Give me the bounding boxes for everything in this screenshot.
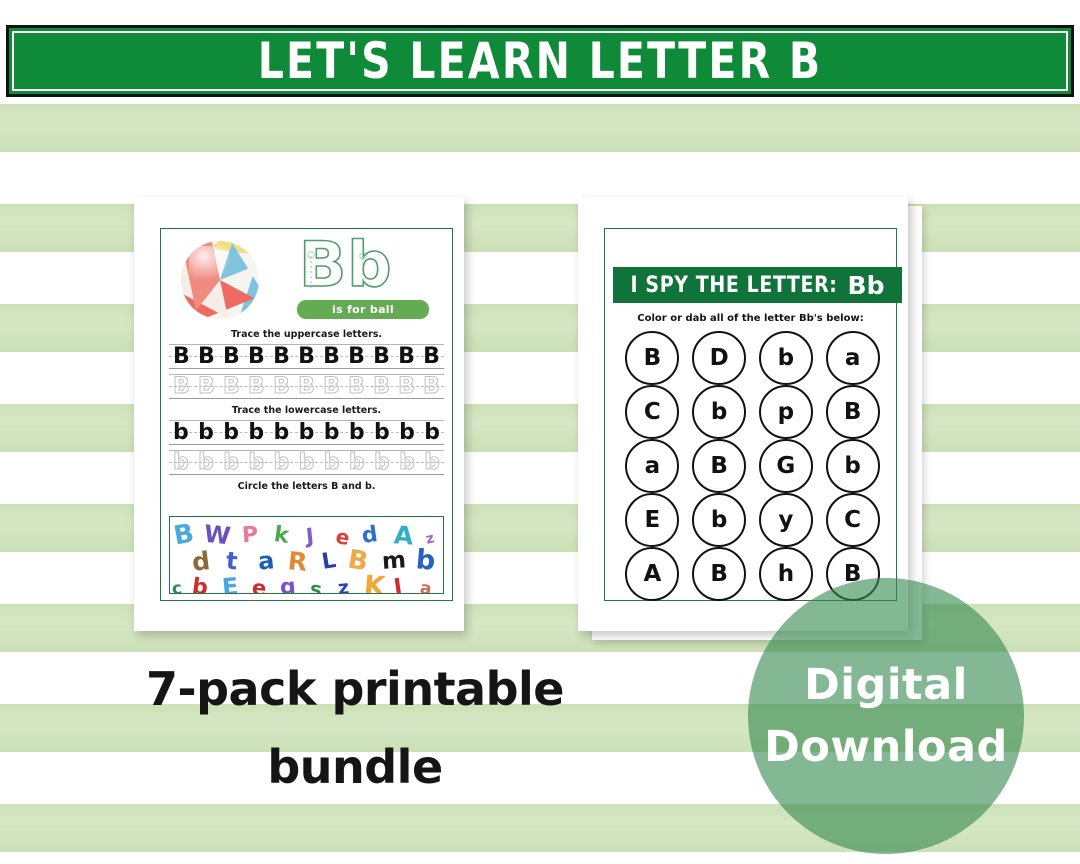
i-spy-bubble[interactable]: h: [759, 547, 813, 601]
fun-letter: K: [363, 572, 386, 594]
trace-letter: B: [198, 344, 215, 370]
i-spy-bubble[interactable]: E: [625, 493, 679, 547]
fun-letter: c: [171, 581, 183, 594]
trace-letter: B: [398, 374, 415, 400]
trace-letter: b: [399, 450, 415, 476]
trace-letter: b: [324, 420, 340, 446]
trace-letter: b: [349, 450, 365, 476]
caption-line-2: bundle: [120, 728, 590, 806]
trace-letter: b: [173, 420, 189, 446]
i-spy-bubble[interactable]: a: [625, 439, 679, 493]
trace-letter: b: [399, 420, 415, 446]
i-spy-bubble[interactable]: D: [692, 331, 746, 385]
trace-letter: B: [223, 374, 240, 400]
title-banner: LET'S LEARN LETTER B: [6, 25, 1074, 97]
caption-line-1: 7-pack printable: [120, 650, 590, 728]
trace-letter: b: [424, 450, 440, 476]
trace-letter: B: [423, 344, 440, 370]
i-spy-bubble[interactable]: B: [692, 547, 746, 601]
i-spy-grid[interactable]: BDbaCbpBaBGbEbyCABhB: [619, 331, 886, 592]
is-for-ball-pill: is for ball: [297, 300, 429, 319]
trace-letter: b: [223, 420, 239, 446]
fun-letter-row: cbEegszKJaN: [170, 569, 443, 594]
hero-section: Bb is for ball: [161, 235, 452, 325]
i-spy-bubble[interactable]: b: [826, 439, 880, 493]
trace-letter: B: [173, 374, 190, 400]
digital-download-badge: Digital Download: [748, 578, 1024, 854]
trace-letter: b: [374, 450, 390, 476]
instruction-uppercase: Trace the uppercase letters.: [169, 329, 444, 340]
i-spy-bubble[interactable]: C: [625, 385, 679, 439]
trace-letter: B: [423, 374, 440, 400]
trace-letter: b: [173, 450, 189, 476]
i-spy-bubble[interactable]: b: [759, 331, 813, 385]
fun-letter: e: [251, 577, 267, 594]
trace-dots-overlay: [303, 250, 423, 294]
fun-letter-row: dtaRLBmbx: [170, 543, 443, 569]
i-spy-subtitle: Color or dab all of the letter Bb's belo…: [605, 313, 896, 324]
trace-letter: B: [248, 344, 265, 370]
instruction-lowercase: Trace the lowercase letters.: [169, 405, 444, 416]
i-spy-bubble[interactable]: a: [826, 331, 880, 385]
fun-letter: z: [337, 579, 350, 594]
trace-letter: b: [248, 420, 264, 446]
uppercase-solid-row[interactable]: BBBBBBBBBBB: [169, 342, 444, 370]
trace-letter: b: [198, 420, 214, 446]
i-spy-bubble[interactable]: B: [692, 439, 746, 493]
trace-letter: B: [373, 344, 390, 370]
trace-letter: b: [324, 450, 340, 476]
i-spy-label: I SPY THE LETTER:: [631, 272, 838, 297]
uppercase-trace-block: Trace the uppercase letters. BBBBBBBBBBB…: [169, 329, 444, 400]
fun-letter-row: BWPkJedAzg: [170, 517, 443, 543]
worksheet-right-inner: I SPY THE LETTER: Bb Color or dab all of…: [604, 228, 897, 601]
trace-letter: b: [198, 450, 214, 476]
i-spy-banner: I SPY THE LETTER: Bb: [613, 267, 902, 303]
i-spy-bubble[interactable]: b: [692, 385, 746, 439]
trace-letter: b: [274, 450, 290, 476]
badge-line-2: Download: [764, 716, 1008, 778]
fun-letter: b: [191, 576, 210, 594]
beach-ball-icon: [181, 241, 259, 319]
uppercase-ghost-row[interactable]: BBBBBBBBBBB: [169, 372, 444, 400]
poster-stage: LET'S LEARN LETTER B Bb: [0, 0, 1080, 864]
instruction-circle: Circle the letters B and b.: [161, 481, 452, 492]
trace-letter: B: [223, 344, 240, 370]
i-spy-bubble[interactable]: A: [625, 547, 679, 601]
trace-letter: b: [274, 420, 290, 446]
trace-letter: B: [273, 344, 290, 370]
fun-letter: g: [279, 576, 296, 594]
lowercase-ghost-row[interactable]: bbbbbbbbbbb: [169, 448, 444, 476]
is-for-ball-label: is for ball: [332, 303, 394, 316]
trace-letter: B: [323, 344, 340, 370]
trace-letter: b: [248, 450, 264, 476]
trace-letter: B: [348, 374, 365, 400]
i-spy-bubble[interactable]: B: [826, 385, 880, 439]
trace-letter: B: [273, 374, 290, 400]
fun-letter: s: [309, 578, 323, 594]
i-spy-bubble[interactable]: p: [759, 385, 813, 439]
i-spy-bubble[interactable]: b: [692, 493, 746, 547]
trace-letter: b: [374, 420, 390, 446]
worksheet-card-left[interactable]: Bb is for ball Trace the uppercase lette…: [134, 197, 464, 631]
page-title: LET'S LEARN LETTER B: [258, 32, 823, 91]
i-spy-bubble[interactable]: C: [826, 493, 880, 547]
trace-letter: B: [173, 344, 190, 370]
i-spy-bubble[interactable]: y: [759, 493, 813, 547]
trace-letter: b: [424, 420, 440, 446]
trace-letter: B: [323, 374, 340, 400]
fun-letter: E: [221, 575, 239, 594]
trace-letter: b: [299, 420, 315, 446]
i-spy-bubble[interactable]: B: [625, 331, 679, 385]
i-spy-letters: Bb: [848, 271, 885, 300]
trace-letter: b: [349, 420, 365, 446]
i-spy-bubble[interactable]: G: [759, 439, 813, 493]
fun-letter: a: [419, 580, 433, 594]
circle-letters-panel[interactable]: BWPkJedAzg dtaRLBmbx cbEegszKJaN: [169, 516, 444, 594]
trace-letter: B: [198, 374, 215, 400]
trace-letter: B: [298, 344, 315, 370]
trace-letter: B: [298, 374, 315, 400]
fun-letter: J: [393, 576, 404, 594]
badge-line-1: Digital: [804, 654, 968, 716]
lowercase-solid-row[interactable]: bbbbbbbbbbb: [169, 418, 444, 446]
trace-letter: B: [373, 374, 390, 400]
worksheet-left-inner: Bb is for ball Trace the uppercase lette…: [160, 228, 453, 601]
trace-letter: B: [348, 344, 365, 370]
bundle-caption: 7-pack printable bundle: [120, 650, 590, 806]
trace-letter: b: [299, 450, 315, 476]
title-banner-inner-border: LET'S LEARN LETTER B: [12, 31, 1068, 91]
trace-letter: B: [248, 374, 265, 400]
trace-letter: b: [223, 450, 239, 476]
trace-letter: B: [398, 344, 415, 370]
worksheet-card-right[interactable]: I SPY THE LETTER: Bb Color or dab all of…: [578, 197, 908, 631]
fun-letter: N: [441, 574, 444, 594]
letter-hero: Bb is for ball: [293, 236, 443, 324]
lowercase-trace-block: Trace the lowercase letters. bbbbbbbbbbb…: [169, 405, 444, 476]
